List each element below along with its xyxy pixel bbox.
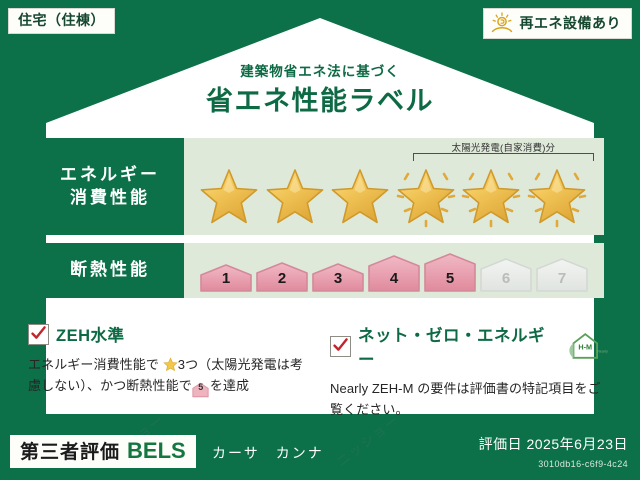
zeh-header: ZEH水準 <box>28 322 306 346</box>
net-zero-energy-section: ネット・ゼロ・エネルギー H-M Nearly Nearly ZEH-M の要件… <box>330 322 608 420</box>
solar-star-icon <box>395 167 457 229</box>
insulation-performance-row: 断熱性能 1234567 <box>36 243 604 298</box>
building-type-tag: 住宅（住棟） <box>8 8 115 34</box>
insulation-level-value: 6 <box>479 270 533 287</box>
building-name: カーサ カンナ <box>212 443 324 463</box>
insulation-level-value: 2 <box>255 270 309 287</box>
energy-performance-row: エネルギー 消費性能 太陽光発電(自家消費)分 <box>36 138 604 235</box>
star-rating <box>192 164 594 231</box>
solar-bracket <box>413 153 594 161</box>
insulation-label-text: 断熱性能 <box>70 259 150 281</box>
nze-title: ネット・ゼロ・エネルギー <box>358 322 559 370</box>
insulation-level-1: 1 <box>199 263 253 293</box>
nze-header: ネット・ゼロ・エネルギー H-M Nearly <box>330 322 608 370</box>
insulation-level-7: 7 <box>535 257 589 293</box>
zeh-text-part4: を達成 <box>210 378 249 393</box>
label-main-title: 省エネ性能ラベル <box>0 79 640 118</box>
solar-sparkle-icon <box>457 164 525 232</box>
svg-text:H-M: H-M <box>578 343 592 352</box>
zeh-text-part1: エネルギー消費性能で <box>28 357 159 372</box>
svg-text:Nearly: Nearly <box>597 349 608 353</box>
insulation-level-value: 5 <box>423 270 477 287</box>
bels-badge: 第三者評価 BELS <box>10 435 196 468</box>
inline-star-icon <box>163 357 178 372</box>
zeh-m-logo: H-M Nearly <box>566 332 608 360</box>
star-icon <box>329 167 391 229</box>
inline-house-value: 5 <box>192 380 210 395</box>
insulation-level-3: 3 <box>311 262 365 293</box>
sun-icon <box>490 12 514 34</box>
insulation-level-6: 6 <box>479 257 533 293</box>
insulation-level-value: 1 <box>199 270 253 287</box>
zeh-title: ZEH水準 <box>56 322 125 346</box>
insulation-performance-panel: 1234567 <box>184 243 604 298</box>
star-glyph <box>329 167 391 229</box>
nze-description: Nearly ZEH-M の要件は評価書の特記項目をご覧ください。 <box>330 378 608 420</box>
star-icon <box>264 167 326 229</box>
energy-label-root: ニッショー ニッショー ニッショー ニッショー ニッショー 住宅（住棟） 再エネ… <box>0 0 640 480</box>
renewable-badge-label: 再エネ設備あり <box>520 16 622 31</box>
evaluation-date: 評価日 2025年6月23日 <box>479 434 628 454</box>
zeh-standard-section: ZEH水準 エネルギー消費性能で 3つ（太陽光発電は考慮しない）、かつ断熱性能で… <box>28 322 306 396</box>
insulation-level-value: 4 <box>367 270 421 287</box>
star-glyph <box>264 167 326 229</box>
insulation-level-value: 7 <box>535 270 589 287</box>
third-party-eval-label: 第三者評価 <box>20 442 120 464</box>
zeh-m-house-icon: H-M Nearly <box>568 332 608 360</box>
star-glyph <box>198 167 260 229</box>
energy-label-line2: 消費性能 <box>70 187 150 209</box>
solar-sparkle-icon <box>523 164 591 232</box>
solar-generation-note: 太陽光発電(自家消費)分 <box>411 140 596 154</box>
star-icon <box>198 167 260 229</box>
insulation-level-2: 2 <box>255 261 309 293</box>
solar-star-icon <box>526 167 588 229</box>
evaluation-date-label: 評価日 <box>479 436 523 452</box>
insulation-performance-label: 断熱性能 <box>36 243 184 298</box>
insulation-level-value: 3 <box>311 270 365 287</box>
insulation-level-5: 5 <box>423 252 477 293</box>
label-subtitle: 建築物省エネ法に基づく <box>0 60 640 80</box>
inline-insulation-house: 5 <box>192 379 210 395</box>
zeh-text-part2: 3つ（太陽光発電 <box>178 357 277 372</box>
check-icon <box>30 325 47 342</box>
check-icon <box>332 337 349 354</box>
energy-performance-panel: 太陽光発電(自家消費)分 <box>184 138 604 235</box>
solar-star-icon <box>460 167 522 229</box>
renewable-energy-badge: 再エネ設備あり <box>483 8 633 39</box>
energy-performance-label: エネルギー 消費性能 <box>36 138 184 235</box>
evaluation-id: 3010db16-c6f9-4c24 <box>538 459 628 469</box>
solar-sparkle-icon <box>392 164 460 232</box>
energy-label-line1: エネルギー <box>60 164 160 186</box>
bels-label: BELS <box>127 438 186 463</box>
insulation-scale: 1234567 <box>198 247 590 293</box>
zeh-description: エネルギー消費性能で 3つ（太陽光発電は考慮しない）、かつ断熱性能で 5 を達成 <box>28 354 306 396</box>
nze-checkbox[interactable] <box>330 336 351 357</box>
zeh-checkbox[interactable] <box>28 324 49 345</box>
evaluation-date-value: 2025年6月23日 <box>526 436 628 452</box>
insulation-level-4: 4 <box>367 254 421 293</box>
